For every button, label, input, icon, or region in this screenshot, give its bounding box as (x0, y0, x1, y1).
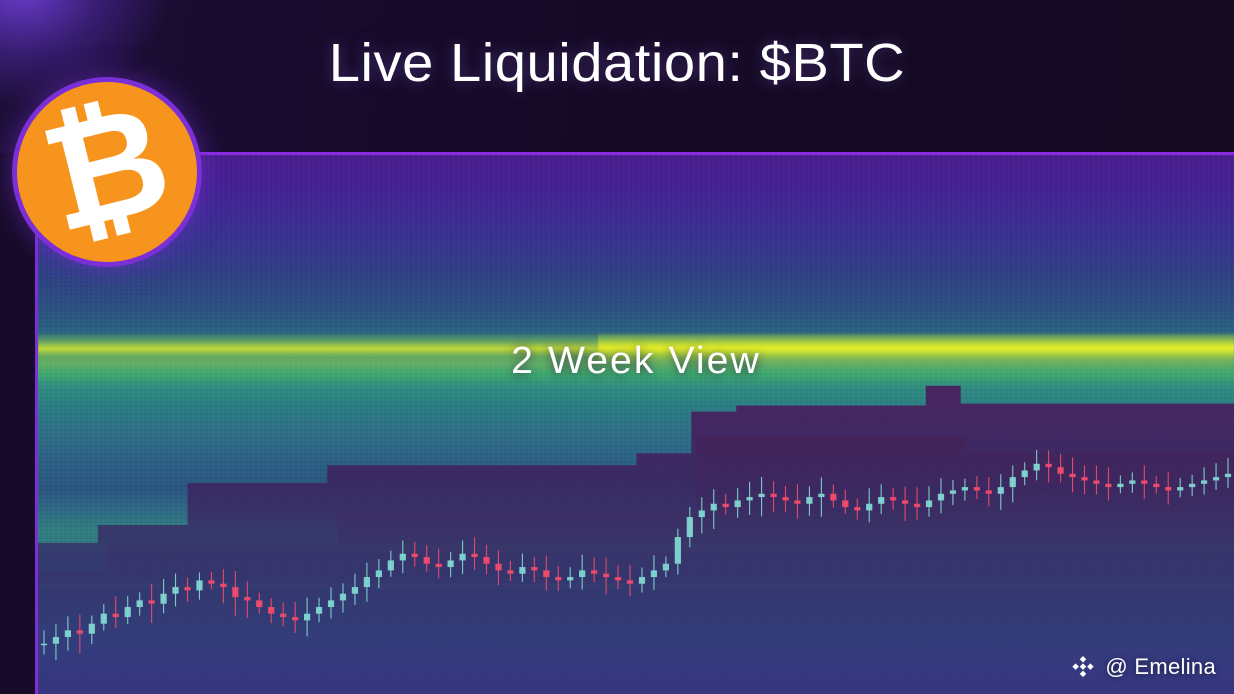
chart-subtitle: 2 Week View (35, 340, 1234, 383)
bitcoin-logo-icon: ₿ (12, 77, 202, 267)
candlestick-overlay (38, 155, 1234, 694)
watermark-handle: @ Emelina (1105, 654, 1216, 680)
watermark: @ Emelina (1070, 654, 1216, 680)
binance-logo-icon (1070, 654, 1096, 680)
liquidation-heatmap-chart[interactable]: 2 Week View (35, 152, 1234, 694)
page-title: Live Liquidation: $BTC (0, 32, 1234, 94)
bitcoin-glyph: ₿ (30, 82, 183, 255)
liquidation-heatmap-screen: Live Liquidation: $BTC (0, 0, 1234, 694)
